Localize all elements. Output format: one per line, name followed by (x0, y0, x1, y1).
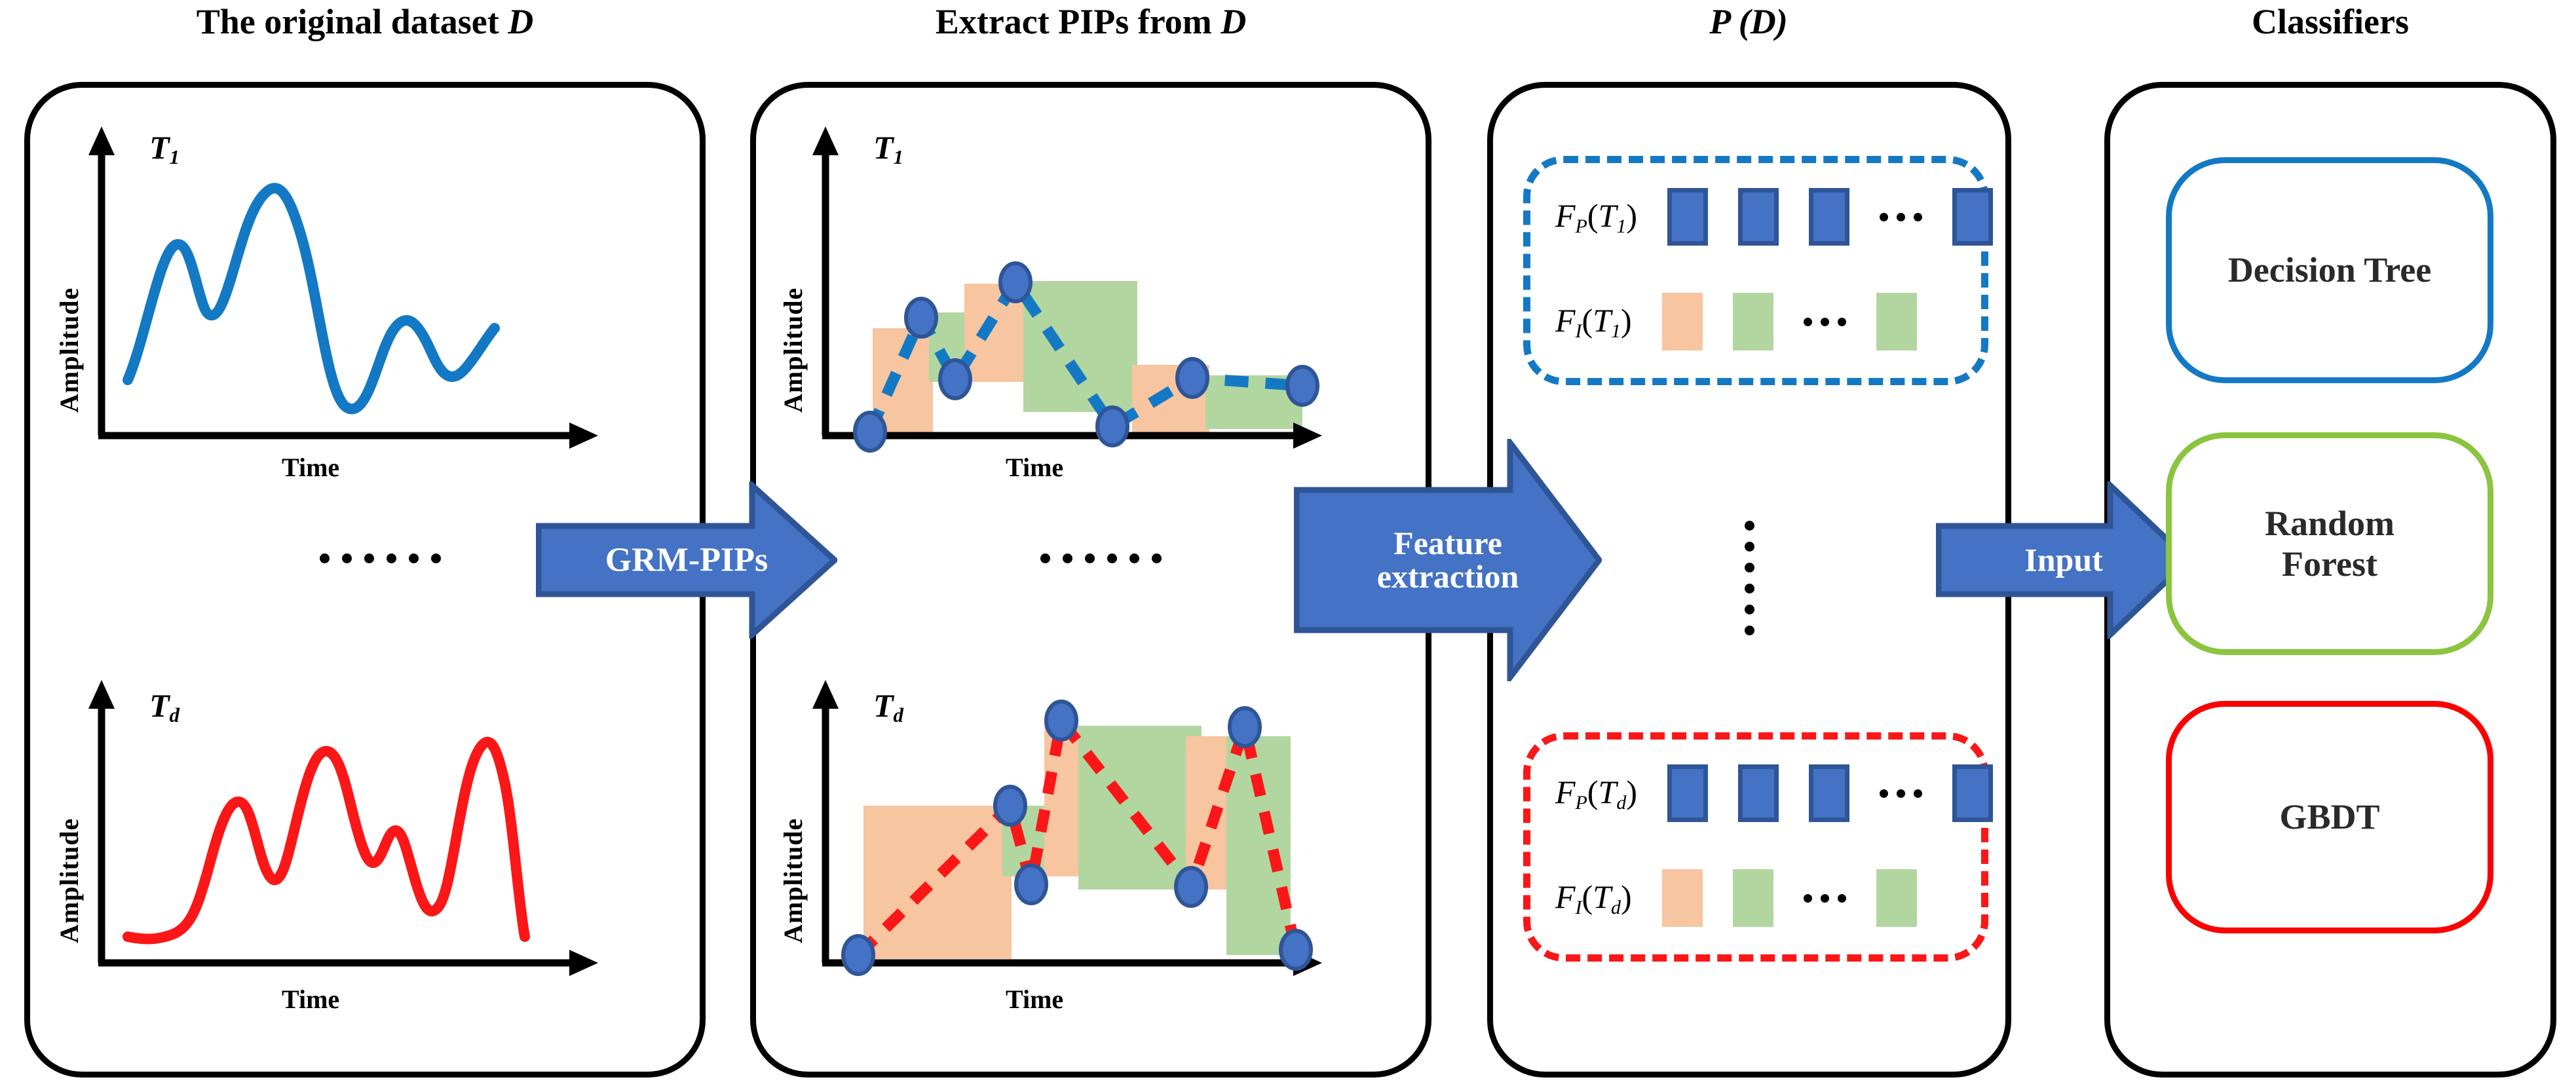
column-title-original-dataset: The original dataset D (24, 4, 706, 39)
feature-row-fp-td-label: FP(Td) (1555, 773, 1637, 814)
chart-td-pips-x-label: Time (1006, 984, 1063, 1015)
classifier-random-forest[interactable]: Random Forest (2166, 432, 2493, 655)
ellipsis-panel1 (320, 553, 441, 563)
title-text: Classifiers (2252, 2, 2409, 41)
chart-td-pips-y-label: Amplitude (778, 818, 808, 943)
feature-cell-position (1738, 764, 1779, 822)
feature-group-td: FP(Td) FI(Td) (1523, 732, 1988, 962)
feature-cell-interval-green (1733, 293, 1773, 350)
feature-group-t1: FP(T1) FI(T1) (1523, 156, 1988, 385)
feature-row-fp-t1: FP(T1) (1555, 188, 1993, 246)
feature-cell-interval-green (1876, 869, 1917, 927)
chart-td-raw-x-label: Time (282, 984, 339, 1015)
title-text: The original dataset (197, 2, 508, 41)
ellipsis-panel2 (1040, 553, 1162, 563)
feature-cell-position (1809, 764, 1849, 822)
feature-cell-position (1667, 764, 1708, 822)
feature-cell-position (1952, 188, 1993, 246)
chart-t1-raw-y-label: Amplitude (54, 288, 85, 413)
title-symbol: P (D) (1709, 2, 1787, 41)
feature-cell-interval-orange (1662, 869, 1703, 927)
feature-cell-interval-green (1733, 869, 1773, 927)
feature-cell-interval-orange (1662, 293, 1703, 350)
chart-td-raw-y-label: Amplitude (54, 818, 85, 943)
feature-row-fp-td: FP(Td) (1555, 764, 1993, 822)
arrow-input[interactable]: Input (1936, 481, 2191, 639)
title-symbol: D (508, 2, 533, 41)
classifier-decision-tree[interactable]: Decision Tree (2166, 157, 2493, 383)
feature-cell-position (1738, 188, 1779, 246)
feature-cell-position (1667, 188, 1708, 246)
feature-cell-position (1952, 764, 1993, 822)
column-title-feature-vectors: P (D) (1477, 4, 2020, 39)
arrow-grm-pips-label: GRM-PIPs (536, 542, 916, 577)
chart-t1-pips-y-label: Amplitude (778, 288, 808, 413)
classifier-gbdt[interactable]: GBDT (2166, 701, 2493, 933)
chart-t1-raw-series-label: T1 (149, 128, 180, 169)
chart-t1-raw (62, 121, 652, 488)
feature-row-fi-t1: FI(T1) (1555, 293, 1917, 350)
chart-td-raw-series-label: Td (149, 686, 180, 727)
column-title-classifiers: Classifiers (2104, 4, 2556, 39)
chart-t1-raw-svg (62, 121, 652, 488)
feature-cell-position (1809, 188, 1849, 246)
arrow-feature-extraction[interactable]: Feature extraction (1294, 439, 1602, 681)
feature-row-ellipsis (1880, 789, 1922, 798)
arrow-grm-pips[interactable]: GRM-PIPs (536, 481, 837, 639)
column-title-extract-pips: Extract PIPs from D (750, 4, 1431, 39)
chart-t1-raw-x-label: Time (282, 452, 339, 483)
feature-row-fp-t1-label: FP(T1) (1555, 197, 1637, 238)
feature-row-ellipsis (1880, 213, 1922, 221)
title-text: Extract PIPs from (936, 2, 1221, 41)
feature-row-fi-td: FI(Td) (1555, 869, 1917, 927)
feature-cell-interval-green (1876, 293, 1917, 350)
chart-td-pips-series-label: Td (873, 686, 903, 727)
feature-row-fi-td-label: FI(Td) (1555, 878, 1632, 919)
feature-row-fi-t1-label: FI(T1) (1555, 301, 1632, 343)
chart-t1-pips-series-label: T1 (873, 128, 903, 169)
ellipsis-panel3 (1745, 521, 1754, 635)
title-symbol: D (1221, 2, 1246, 41)
arrow-feature-extraction-label: Feature extraction (1294, 527, 1687, 593)
feature-row-ellipsis (1804, 894, 1846, 903)
chart-t1-pips (786, 121, 1376, 488)
chart-t1-pips-svg (786, 121, 1376, 488)
feature-row-ellipsis (1804, 318, 1846, 326)
chart-t1-pips-x-label: Time (1006, 452, 1063, 483)
